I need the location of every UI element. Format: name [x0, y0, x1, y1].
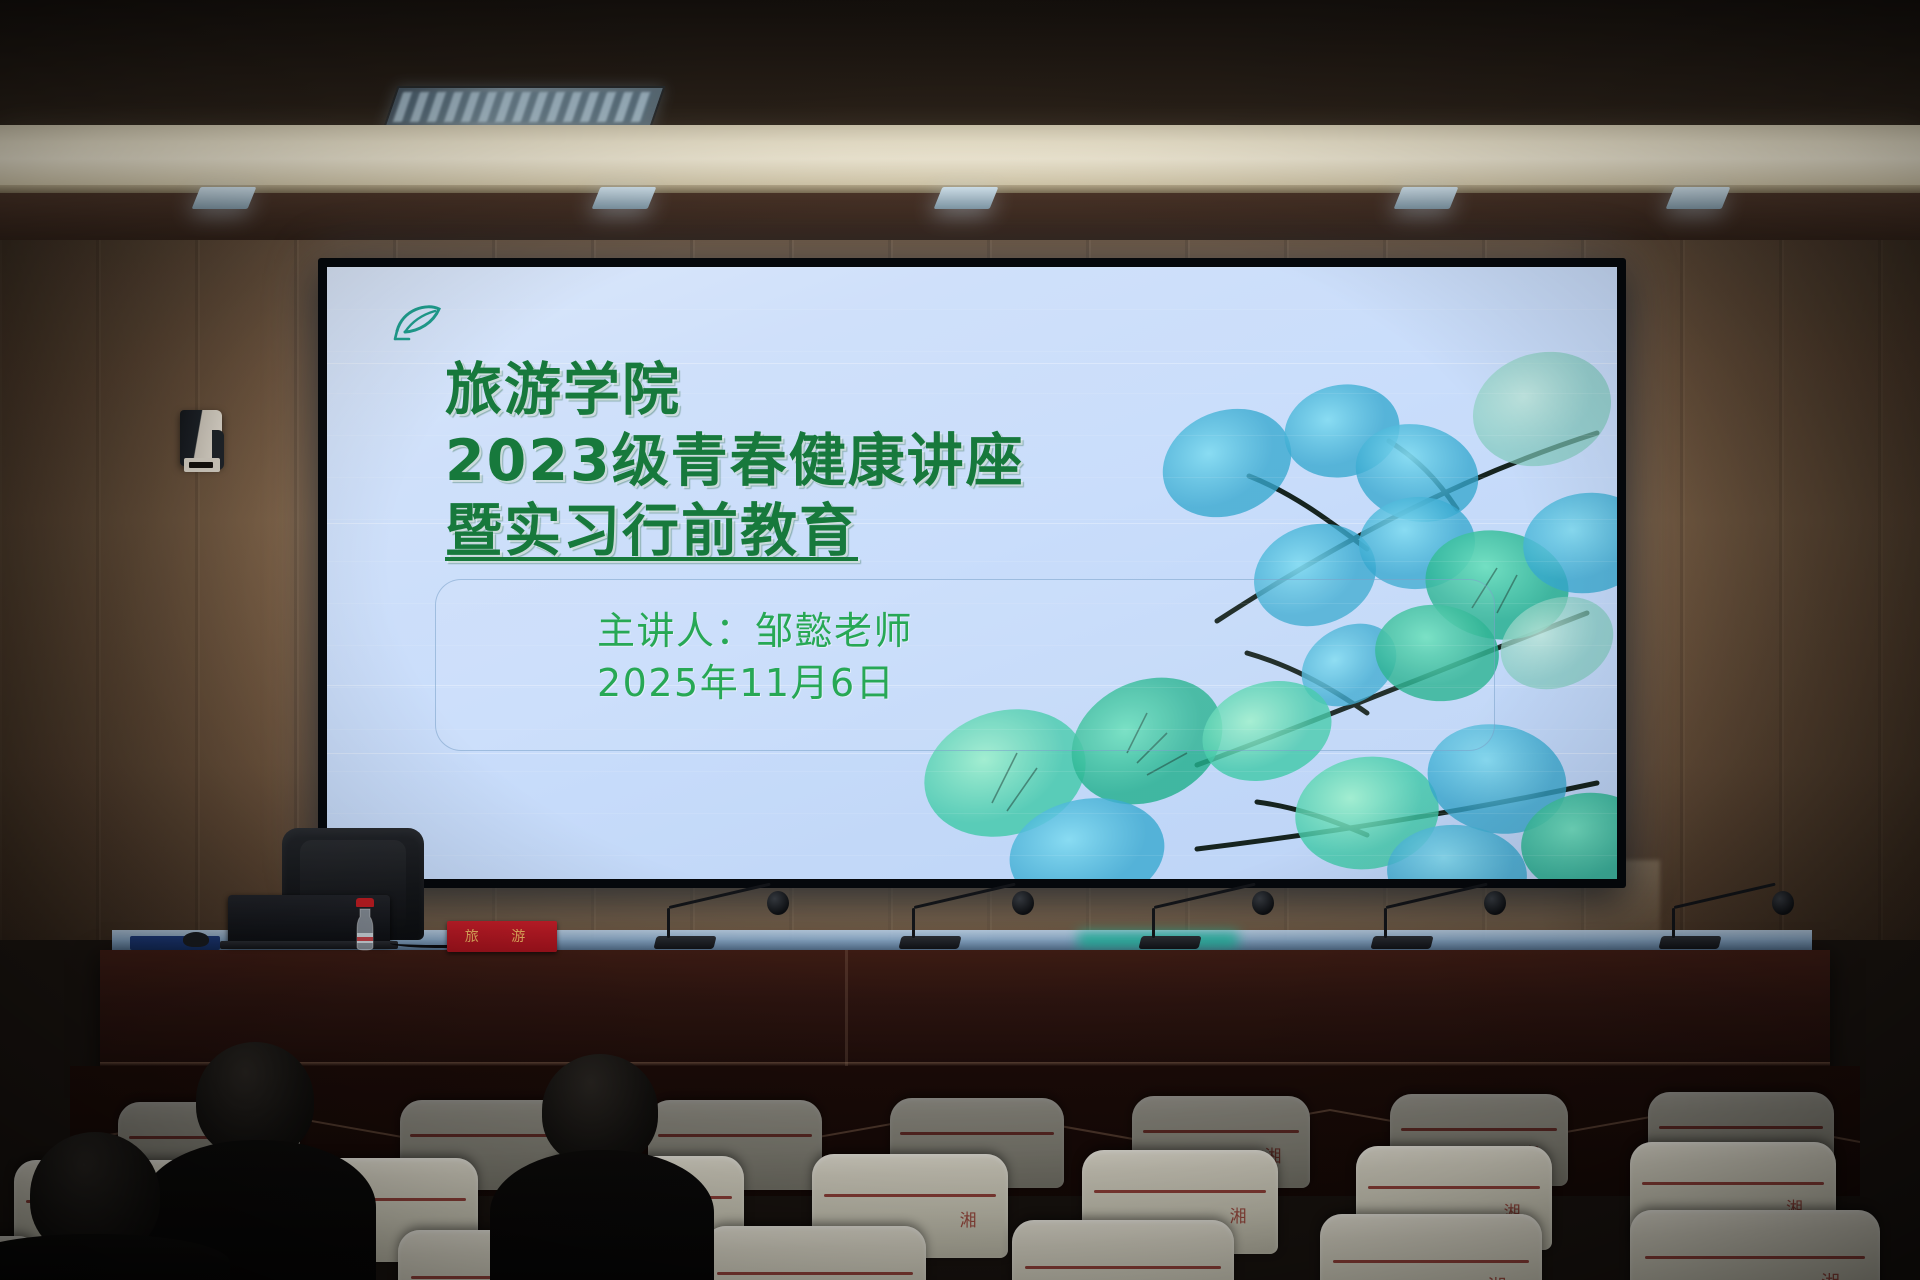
lecture-hall-photo: 旅游学院 2023级青春健康讲座 暨实习行前教育 主讲人：邹懿老师 2025年1…: [0, 0, 1920, 1280]
downlight-icon: [1394, 187, 1459, 209]
audience-person-shoulders: [490, 1150, 714, 1280]
seat[interactable]: 湘: [1630, 1210, 1880, 1280]
feather-leaf-logo-icon: [389, 301, 447, 345]
slide-title-block: 旅游学院 2023级青春健康讲座 暨实习行前教育: [445, 355, 1265, 567]
seat[interactable]: 湘: [1012, 1220, 1234, 1280]
slide-info-text: 主讲人：邹懿老师 2025年11月6日: [597, 605, 1297, 710]
slide-title-line-1: 旅游学院: [445, 355, 1265, 426]
slide-title-line-2: 2023级青春健康讲座: [445, 426, 1265, 497]
water-bottle[interactable]: [355, 903, 375, 951]
slide-title-line-3: 暨实习行前教育: [445, 496, 1265, 567]
seat-emblem: 湘: [1487, 1272, 1506, 1280]
wall-camera-lens: [184, 458, 220, 472]
slide-speaker-line: 主讲人：邹懿老师: [597, 605, 1297, 657]
computer-mouse[interactable]: [183, 932, 209, 947]
seat[interactable]: 湘: [1320, 1214, 1542, 1280]
seat-emblem: 湘: [960, 1206, 977, 1231]
slide-date-line: 2025年11月6日: [597, 657, 1297, 709]
downlight-icon: [934, 187, 999, 209]
ceiling-recess-light-glow: [393, 92, 653, 122]
projection-screen[interactable]: 旅游学院 2023级青春健康讲座 暨实习行前教育 主讲人：邹懿老师 2025年1…: [318, 258, 1626, 888]
seat[interactable]: 湘: [704, 1226, 926, 1280]
downlight-icon: [1666, 187, 1731, 209]
presentation-slide: 旅游学院 2023级青春健康讲座 暨实习行前教育 主讲人：邹懿老师 2025年1…: [327, 267, 1617, 879]
seat-emblem: 湘: [1821, 1268, 1840, 1280]
downlight-icon: [192, 187, 257, 209]
ceiling: [0, 0, 1920, 128]
downlight-icon: [592, 187, 657, 209]
ceiling-soffit-band: [0, 125, 1920, 187]
seat-emblem: 湘: [1230, 1202, 1247, 1227]
nameplate-text: 旅 游: [452, 926, 552, 946]
bottle-cap: [356, 898, 374, 907]
